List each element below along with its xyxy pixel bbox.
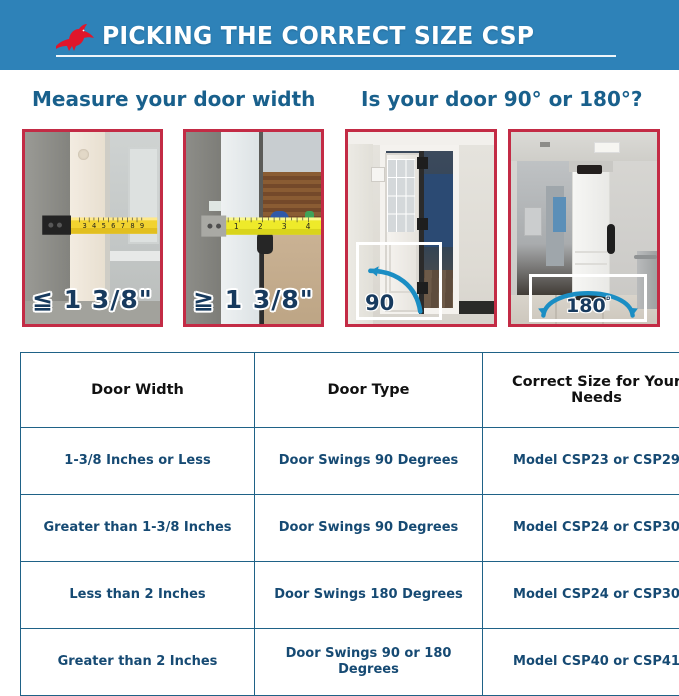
cell-door-width: Greater than 1-3/8 Inches: [21, 495, 255, 562]
door-swing-180-photo: 180°: [508, 129, 660, 327]
angle-180-overlay: 180°: [529, 274, 647, 322]
svg-text:9: 9: [140, 222, 144, 230]
degree-symbol: °: [606, 296, 611, 308]
table-header-row: Door Width Door Type Correct Size for Yo…: [21, 353, 679, 428]
table-row: Less than 2 Inches Door Swings 180 Degre…: [21, 562, 679, 629]
size-selection-table: Door Width Door Type Correct Size for Yo…: [20, 352, 679, 696]
cell-correct-size: Model CSP40 or CSP41: [483, 629, 679, 696]
angle-90-overlay: 90: [356, 242, 442, 320]
cell-door-width: Less than 2 Inches: [21, 562, 255, 629]
page-title: PICKING THE CORRECT SIZE CSP: [102, 21, 534, 50]
header-content: PICKING THE CORRECT SIZE CSP: [50, 0, 640, 70]
svg-text:2: 2: [258, 222, 263, 231]
svg-text:6: 6: [111, 222, 115, 230]
photo-caption-measurement: ≦ 1 3/8": [25, 285, 160, 314]
cell-correct-size: Model CSP24 or CSP30: [483, 562, 679, 629]
angle-180-value: 180: [566, 295, 606, 317]
table-row: Greater than 1-3/8 Inches Door Swings 90…: [21, 495, 679, 562]
cell-door-type: Door Swings 90 or 180 Degrees: [255, 629, 483, 696]
page-header-band: PICKING THE CORRECT SIZE CSP: [0, 0, 679, 70]
table-header-door-width: Door Width: [21, 353, 255, 428]
door-jamb-narrow-photo: 345 678 9 ≦ 1 3/8": [22, 129, 163, 327]
section-heading-measure-width: Measure your door width: [32, 87, 315, 111]
cardinal-bird-icon: [50, 20, 96, 54]
svg-text:7: 7: [121, 222, 125, 230]
svg-text:3: 3: [82, 222, 86, 230]
svg-text:1: 1: [234, 222, 239, 231]
svg-text:4: 4: [92, 222, 96, 230]
cell-correct-size: Model CSP24 or CSP30: [483, 495, 679, 562]
door-jamb-wide-photo: 12 34 ≧ 1 3/8": [183, 129, 324, 327]
cell-door-type: Door Swings 90 Degrees: [255, 428, 483, 495]
cell-door-width: Greater than 2 Inches: [21, 629, 255, 696]
svg-text:3: 3: [282, 222, 287, 231]
door-handle-icon: [607, 224, 615, 254]
table-header-door-type: Door Type: [255, 353, 483, 428]
table-row: Greater than 2 Inches Door Swings 90 or …: [21, 629, 679, 696]
cell-correct-size: Model CSP23 or CSP29: [483, 428, 679, 495]
angle-90-label: 90: [365, 291, 394, 315]
cell-door-type: Door Swings 90 Degrees: [255, 495, 483, 562]
section-heading-door-angle: Is your door 90° or 180°?: [361, 87, 642, 111]
door-swing-90-photo: 90: [345, 129, 497, 327]
photo-caption-measurement: ≧ 1 3/8": [186, 285, 321, 314]
header-underline: [56, 55, 616, 57]
svg-text:8: 8: [130, 222, 134, 230]
table-header-correct-size: Correct Size for Your Needs: [483, 353, 679, 428]
svg-text:4: 4: [306, 222, 311, 231]
ceiling-light-icon: [594, 142, 619, 154]
svg-text:5: 5: [102, 222, 106, 230]
light-switch-icon: [371, 167, 385, 182]
ceiling-vent-icon: [540, 142, 550, 148]
cell-door-width: 1-3/8 Inches or Less: [21, 428, 255, 495]
cell-door-type: Door Swings 180 Degrees: [255, 562, 483, 629]
table-row: 1-3/8 Inches or Less Door Swings 90 Degr…: [21, 428, 679, 495]
angle-180-label: 180°: [566, 295, 611, 317]
